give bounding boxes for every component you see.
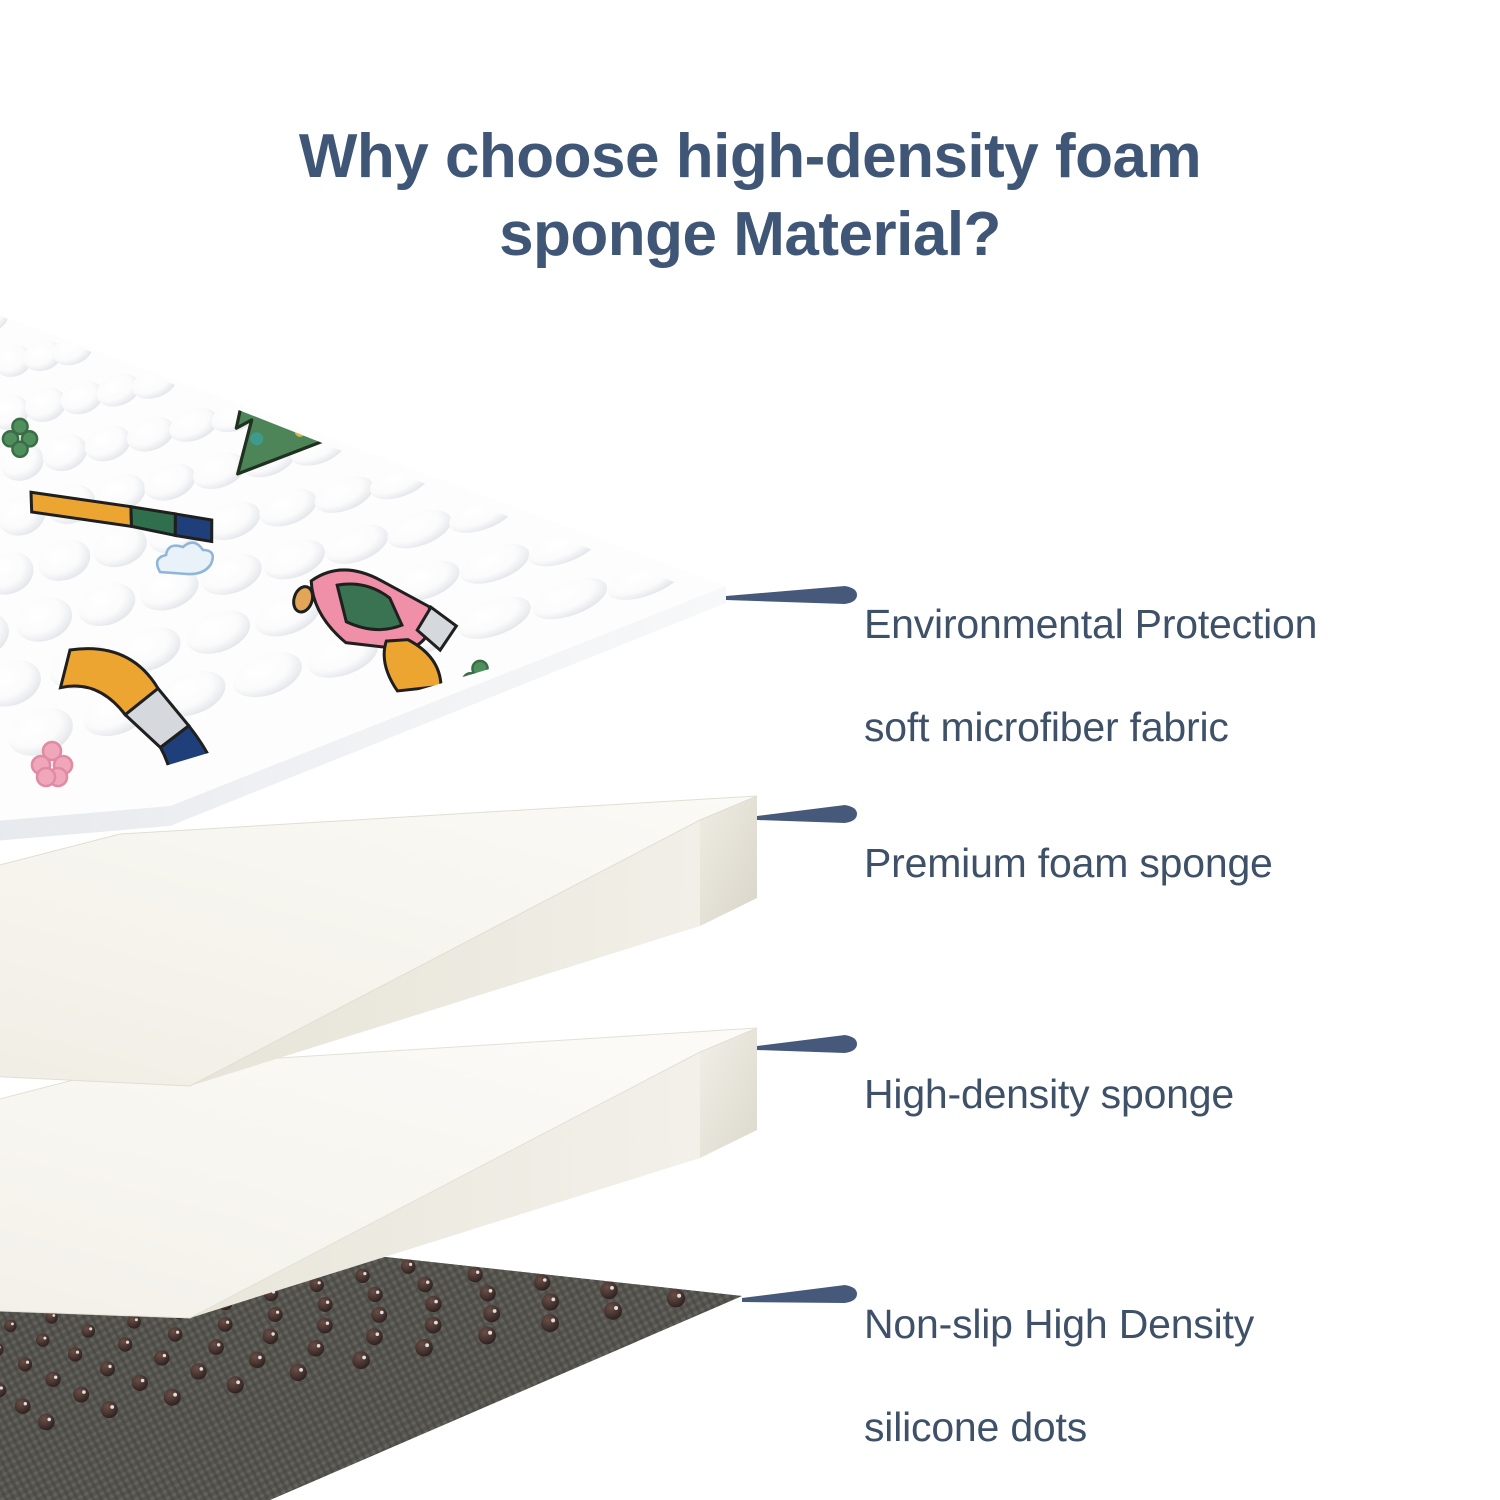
callout-label-high-density: High-density sponge: [864, 1018, 1234, 1172]
callout-label-fabric: Environmental Protection soft microfiber…: [864, 548, 1317, 804]
callout-pointers: [726, 586, 857, 1303]
infographic-page: Why choose high-density foam sponge Mate…: [0, 0, 1500, 1500]
callout-label-premium-foam: Premium foam sponge: [864, 787, 1273, 941]
pointer-silicone: [742, 1285, 857, 1303]
callout-label-silicone-dots-line-1: Non-slip High Density: [864, 1299, 1254, 1350]
pointer-fabric: [726, 586, 857, 604]
callout-label-fabric-line-2: soft microfiber fabric: [864, 702, 1317, 753]
pointer-premium: [757, 805, 857, 823]
callout-label-high-density-line-1: High-density sponge: [864, 1069, 1234, 1120]
callout-label-premium-foam-line-1: Premium foam sponge: [864, 838, 1273, 889]
callout-label-silicone-dots-line-2: silicone dots: [864, 1402, 1254, 1453]
pointer-density: [757, 1035, 857, 1053]
callout-label-silicone-dots: Non-slip High Density silicone dots: [864, 1248, 1254, 1500]
callout-label-fabric-line-1: Environmental Protection: [864, 599, 1317, 650]
